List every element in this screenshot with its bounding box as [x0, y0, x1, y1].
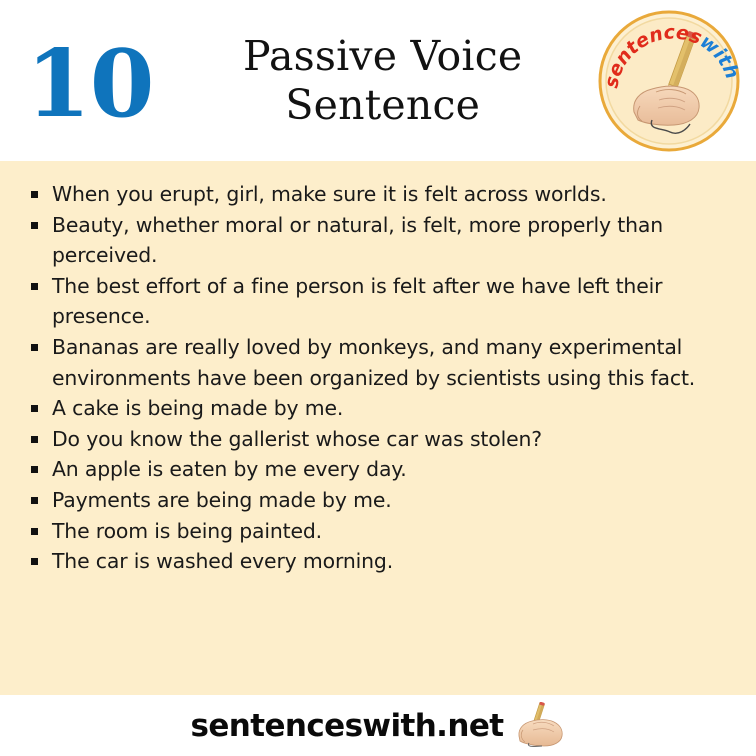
list-item: An apple is eaten by me every day.	[22, 454, 734, 485]
bullet-square-icon	[31, 222, 38, 229]
list-item-text: A cake is being made by me.	[52, 396, 343, 420]
list-item-text: When you erupt, girl, make sure it is fe…	[52, 182, 607, 206]
list-item: Beauty, whether moral or natural, is fel…	[22, 210, 734, 271]
page-title-line-2: Sentence	[159, 81, 606, 129]
bullet-square-icon	[31, 344, 38, 351]
bullet-square-icon	[31, 497, 38, 504]
site-logo-badge[interactable]: sentenceswith.net	[596, 8, 742, 154]
bullet-square-icon	[31, 283, 38, 290]
list-item: When you erupt, girl, make sure it is fe…	[22, 179, 734, 210]
list-item: The room is being painted.	[22, 516, 734, 547]
footer-brand[interactable]: sentenceswith.net	[191, 708, 504, 744]
sentence-list-panel: When you erupt, girl, make sure it is fe…	[0, 161, 756, 695]
hand-with-pencil-icon	[513, 702, 565, 748]
list-item: Bananas are really loved by monkeys, and…	[22, 332, 734, 393]
bullet-square-icon	[31, 191, 38, 198]
list-item-text: The room is being painted.	[52, 519, 322, 543]
sentence-list: When you erupt, girl, make sure it is fe…	[22, 179, 734, 577]
page-header: 10 Passive Voice Sentence	[0, 0, 756, 161]
list-item-text: Bananas are really loved by monkeys, and…	[52, 335, 695, 390]
list-item-text: The best effort of a fine person is felt…	[52, 274, 662, 329]
list-item: A cake is being made by me.	[22, 393, 734, 424]
bullet-square-icon	[31, 405, 38, 412]
bullet-square-icon	[31, 528, 38, 535]
list-item-text: Beauty, whether moral or natural, is fel…	[52, 213, 663, 268]
bullet-square-icon	[31, 436, 38, 443]
page-title-line-1: Passive Voice	[159, 32, 606, 80]
list-item-text: The car is washed every morning.	[52, 549, 393, 573]
bullet-square-icon	[31, 466, 38, 473]
poster-page: 10 Passive Voice Sentence	[0, 0, 756, 756]
bullet-square-icon	[31, 558, 38, 565]
list-item: The best effort of a fine person is felt…	[22, 271, 734, 332]
page-footer: sentenceswith.net	[0, 695, 756, 756]
list-item-text: Do you know the gallerist whose car was …	[52, 427, 542, 451]
count-number: 10	[26, 37, 153, 130]
list-item: Payments are being made by me.	[22, 485, 734, 516]
list-item-text: An apple is eaten by me every day.	[52, 457, 407, 481]
list-item-text: Payments are being made by me.	[52, 488, 392, 512]
list-item: Do you know the gallerist whose car was …	[22, 424, 734, 455]
list-item: The car is washed every morning.	[22, 546, 734, 577]
